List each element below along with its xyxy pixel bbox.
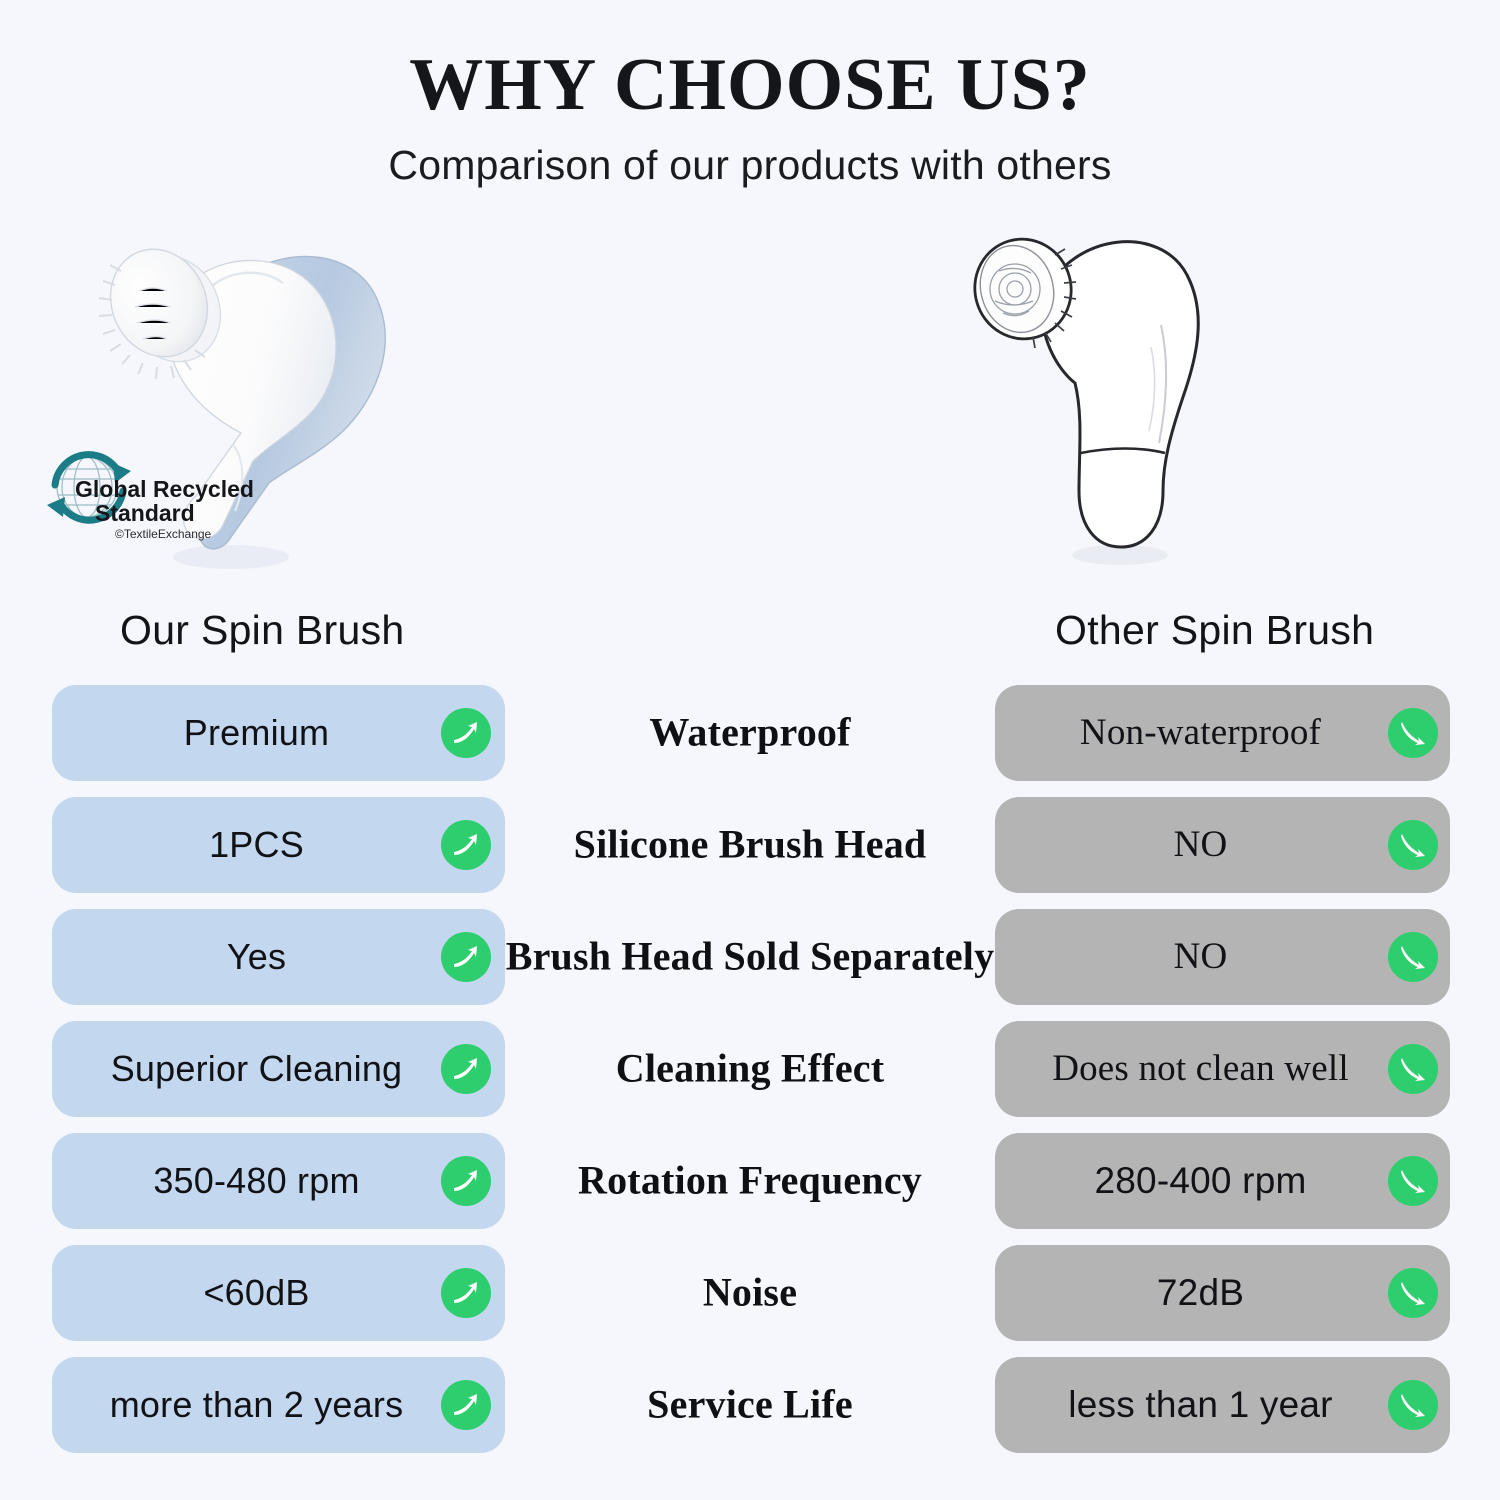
other-value-cell: NO bbox=[995, 909, 1450, 1005]
other-product-image bbox=[925, 207, 1345, 607]
grs-line1: Global Recycled bbox=[75, 476, 254, 502]
grs-logo-icon: Global Recycled Standard ©TextileExchang… bbox=[27, 439, 257, 549]
other-value-cell: 72dB bbox=[995, 1245, 1450, 1341]
check-up-swoosh-icon bbox=[441, 1268, 491, 1318]
our-value-cell: more than 2 years bbox=[52, 1357, 505, 1453]
check-down-swoosh-icon bbox=[1388, 1044, 1438, 1094]
feature-label: Cleaning Effect bbox=[505, 1047, 995, 1092]
other-value-text: Does not clean well bbox=[1021, 1047, 1380, 1090]
page-subtitle: Comparison of our products with others bbox=[0, 142, 1500, 189]
table-row: Premium Waterproof Non-waterproof bbox=[0, 685, 1500, 781]
check-down-swoosh-icon bbox=[1388, 932, 1438, 982]
our-value-cell: Superior Cleaning bbox=[52, 1021, 505, 1117]
check-up-swoosh-icon bbox=[441, 1044, 491, 1094]
table-row: 1PCS Silicone Brush Head NO bbox=[0, 797, 1500, 893]
global-recycled-standard-badge: Global Recycled Standard ©TextileExchang… bbox=[27, 439, 257, 549]
our-value-text: Premium bbox=[78, 712, 435, 754]
our-value-text: Superior Cleaning bbox=[78, 1048, 435, 1090]
table-row: Superior Cleaning Cleaning Effect Does n… bbox=[0, 1021, 1500, 1117]
product-hero: Global Recycled Standard ©TextileExchang… bbox=[0, 207, 1500, 607]
comparison-table: Premium Waterproof Non-waterproof 1PCS S… bbox=[0, 685, 1500, 1453]
feature-label: Rotation Frequency bbox=[505, 1159, 995, 1204]
our-value-cell: 350-480 rpm bbox=[52, 1133, 505, 1229]
feature-label: Service Life bbox=[505, 1383, 995, 1428]
other-value-text: 280-400 rpm bbox=[1021, 1160, 1380, 1202]
our-value-text: Yes bbox=[78, 936, 435, 978]
other-value-text: less than 1 year bbox=[1021, 1384, 1380, 1426]
our-value-text: more than 2 years bbox=[78, 1384, 435, 1426]
column-captions: Our Spin Brush Other Spin Brush bbox=[0, 607, 1500, 679]
our-value-cell: <60dB bbox=[52, 1245, 505, 1341]
feature-label: Brush Head Sold Separately bbox=[505, 935, 995, 980]
grs-line3: ©TextileExchange bbox=[115, 527, 212, 541]
our-value-text: <60dB bbox=[78, 1272, 435, 1314]
other-value-text: Non-waterproof bbox=[1021, 711, 1380, 754]
check-down-swoosh-icon bbox=[1388, 1156, 1438, 1206]
check-up-swoosh-icon bbox=[441, 1156, 491, 1206]
check-down-swoosh-icon bbox=[1388, 708, 1438, 758]
table-row: <60dB Noise 72dB bbox=[0, 1245, 1500, 1341]
grs-line2: Standard bbox=[95, 500, 195, 526]
other-value-cell: Non-waterproof bbox=[995, 685, 1450, 781]
caption-other-spin-brush: Other Spin Brush bbox=[1055, 607, 1374, 654]
other-value-text: NO bbox=[1021, 935, 1380, 978]
our-product-image: Global Recycled Standard ©TextileExchang… bbox=[55, 207, 475, 607]
other-spin-brush-illustration bbox=[925, 207, 1345, 607]
our-value-cell: Yes bbox=[52, 909, 505, 1005]
check-up-swoosh-icon bbox=[441, 932, 491, 982]
check-down-swoosh-icon bbox=[1388, 1268, 1438, 1318]
table-row: more than 2 years Service Life less than… bbox=[0, 1357, 1500, 1453]
check-down-swoosh-icon bbox=[1388, 1380, 1438, 1430]
our-value-text: 350-480 rpm bbox=[78, 1160, 435, 1202]
table-row: Yes Brush Head Sold Separately NO bbox=[0, 909, 1500, 1005]
check-up-swoosh-icon bbox=[441, 708, 491, 758]
other-value-text: NO bbox=[1021, 823, 1380, 866]
our-value-cell: 1PCS bbox=[52, 797, 505, 893]
other-value-cell: Does not clean well bbox=[995, 1021, 1450, 1117]
other-value-cell: 280-400 rpm bbox=[995, 1133, 1450, 1229]
other-value-cell: less than 1 year bbox=[995, 1357, 1450, 1453]
other-value-cell: NO bbox=[995, 797, 1450, 893]
header: WHY CHOOSE US? Comparison of our product… bbox=[0, 0, 1500, 189]
other-value-text: 72dB bbox=[1021, 1272, 1380, 1314]
check-up-swoosh-icon bbox=[441, 1380, 491, 1430]
our-value-text: 1PCS bbox=[78, 824, 435, 866]
our-value-cell: Premium bbox=[52, 685, 505, 781]
feature-label: Waterproof bbox=[505, 711, 995, 756]
caption-our-spin-brush: Our Spin Brush bbox=[120, 607, 405, 654]
feature-label: Noise bbox=[505, 1271, 995, 1316]
feature-label: Silicone Brush Head bbox=[505, 823, 995, 868]
page-title: WHY CHOOSE US? bbox=[0, 46, 1500, 126]
check-down-swoosh-icon bbox=[1388, 820, 1438, 870]
table-row: 350-480 rpm Rotation Frequency 280-400 r… bbox=[0, 1133, 1500, 1229]
check-up-swoosh-icon bbox=[441, 820, 491, 870]
